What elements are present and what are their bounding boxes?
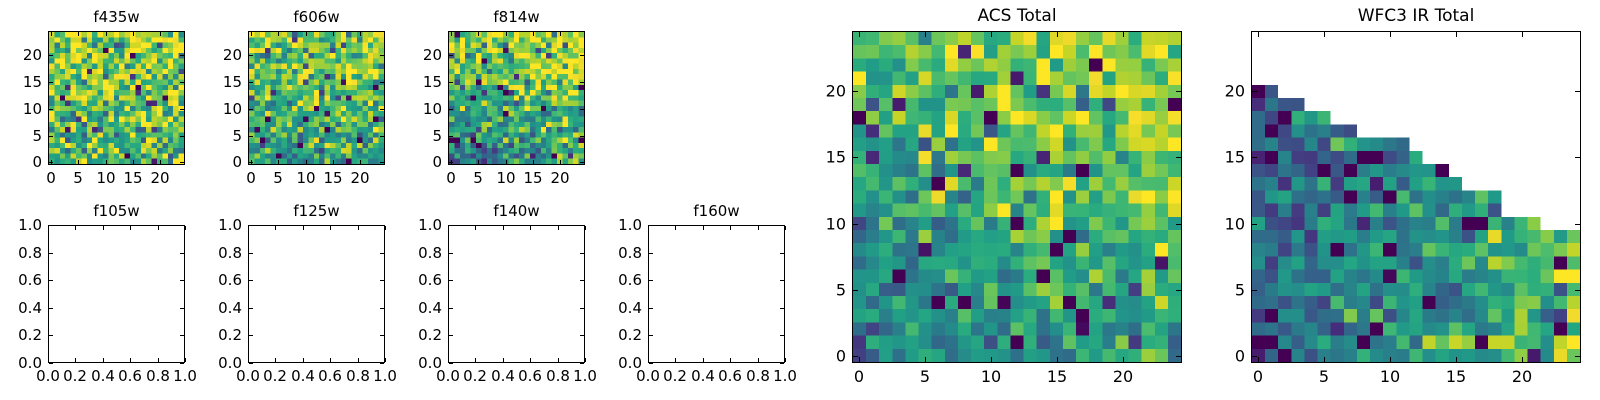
ytick-right-f814w-4 <box>580 55 584 56</box>
xtick-f125w-1 <box>275 358 276 362</box>
xtick-f814w-3 <box>533 160 534 164</box>
xticklabel-wfc3-ir-total-1: 5 <box>1319 367 1329 386</box>
xticklabel-f606w-0: 0 <box>246 169 256 187</box>
yticklabel-wfc3-ir-total-1: 5 <box>1235 281 1245 300</box>
xtick-top-f160w-0 <box>648 226 649 230</box>
xtick-top-f140w-1 <box>475 226 476 230</box>
yticklabel-wfc3-ir-total-0: 0 <box>1235 347 1245 366</box>
yticklabel-f125w-0: 0.0 <box>218 354 242 372</box>
xtick-top-f105w-3 <box>130 226 131 230</box>
xtick-top-f435w-0 <box>51 32 52 36</box>
heatmap-f814w <box>449 32 584 164</box>
ytick-right-f105w-1 <box>180 335 184 336</box>
ytick-right-wfc3-ir-total-4 <box>1575 91 1580 92</box>
yticklabel-f606w-4: 20 <box>223 46 242 64</box>
xtick-top-acs-total-3 <box>1057 32 1058 37</box>
panel-title-f435w: f435w <box>48 8 185 26</box>
xtick-wfc3-ir-total-1 <box>1324 357 1325 362</box>
xtick-top-f105w-4 <box>158 226 159 230</box>
xtick-f814w-4 <box>560 160 561 164</box>
xtick-acs-total-3 <box>1057 357 1058 362</box>
ytick-wfc3-ir-total-4 <box>1252 91 1257 92</box>
ytick-right-f606w-3 <box>380 82 384 83</box>
ytick-f105w-4 <box>49 253 53 254</box>
ytick-right-f160w-5 <box>780 225 784 226</box>
xticklabel-f140w-4: 0.8 <box>546 367 570 385</box>
xticklabel-f435w-1: 5 <box>73 169 83 187</box>
xtick-top-f140w-4 <box>558 226 559 230</box>
xtick-f140w-2 <box>503 358 504 362</box>
xtick-f606w-3 <box>333 160 334 164</box>
ytick-right-f105w-5 <box>180 225 184 226</box>
yticklabel-f814w-0: 0 <box>432 153 442 171</box>
xtick-f125w-4 <box>358 358 359 362</box>
ytick-right-f125w-3 <box>380 280 384 281</box>
yticklabel-f105w-1: 0.2 <box>18 326 42 344</box>
xtick-f814w-2 <box>506 160 507 164</box>
ytick-right-f125w-4 <box>380 253 384 254</box>
xtick-wfc3-ir-total-3 <box>1456 357 1457 362</box>
yticklabel-f125w-3: 0.6 <box>218 271 242 289</box>
ytick-right-acs-total-3 <box>1176 157 1181 158</box>
xtick-top-f435w-1 <box>78 32 79 36</box>
panel-acs-total: ACS Total0510152005101520 <box>852 31 1182 363</box>
yticklabel-acs-total-3: 15 <box>826 148 846 167</box>
xtick-top-f606w-2 <box>306 32 307 36</box>
yticklabel-f160w-1: 0.2 <box>618 326 642 344</box>
panel-f125w: f125w0.00.20.40.60.81.00.00.20.40.60.81.… <box>248 225 385 363</box>
yticklabel-f435w-2: 10 <box>23 100 42 118</box>
xticklabel-f125w-4: 0.8 <box>346 367 370 385</box>
yticklabel-f105w-3: 0.6 <box>18 271 42 289</box>
ytick-right-f435w-2 <box>180 109 184 110</box>
xtick-f160w-4 <box>758 358 759 362</box>
ytick-f606w-3 <box>249 82 253 83</box>
ytick-right-f606w-2 <box>380 109 384 110</box>
xtick-top-f814w-0 <box>451 32 452 36</box>
yticklabel-f105w-5: 1.0 <box>18 216 42 234</box>
ytick-right-f435w-3 <box>180 82 184 83</box>
xtick-top-wfc3-ir-total-2 <box>1390 32 1391 37</box>
panel-title-f125w: f125w <box>248 202 385 220</box>
xticklabel-f814w-1: 5 <box>473 169 483 187</box>
panel-f435w: f435w0510152005101520 <box>48 31 185 165</box>
heatmap-f435w <box>49 32 184 164</box>
panel-title-f814w: f814w <box>448 8 585 26</box>
xticklabel-acs-total-1: 5 <box>920 367 930 386</box>
axes-f160w <box>648 225 785 363</box>
ytick-f814w-0 <box>449 162 453 163</box>
axes-f814w <box>448 31 585 165</box>
ytick-f160w-5 <box>649 225 653 226</box>
xtick-f606w-2 <box>306 160 307 164</box>
yticklabel-f606w-0: 0 <box>232 153 242 171</box>
ytick-right-f606w-4 <box>380 55 384 56</box>
ytick-f606w-0 <box>249 162 253 163</box>
xticklabel-f814w-0: 0 <box>446 169 456 187</box>
xtick-f140w-3 <box>530 358 531 362</box>
xtick-f105w-2 <box>103 358 104 362</box>
xticklabel-f435w-0: 0 <box>46 169 56 187</box>
xticklabel-f435w-2: 10 <box>96 169 115 187</box>
ytick-right-acs-total-0 <box>1176 356 1181 357</box>
xtick-f125w-5 <box>385 358 386 362</box>
ytick-right-acs-total-1 <box>1176 290 1181 291</box>
xticklabel-f105w-3: 0.6 <box>118 367 142 385</box>
xtick-top-f125w-1 <box>275 226 276 230</box>
xtick-top-f125w-0 <box>248 226 249 230</box>
xtick-wfc3-ir-total-2 <box>1390 357 1391 362</box>
ytick-right-f435w-1 <box>180 136 184 137</box>
yticklabel-f105w-2: 0.4 <box>18 299 42 317</box>
panel-title-f140w: f140w <box>448 202 585 220</box>
xtick-top-f814w-1 <box>478 32 479 36</box>
xtick-wfc3-ir-total-4 <box>1522 357 1523 362</box>
xtick-top-wfc3-ir-total-0 <box>1258 32 1259 37</box>
xtick-top-f140w-5 <box>585 226 586 230</box>
yticklabel-f160w-3: 0.6 <box>618 271 642 289</box>
xtick-top-f140w-2 <box>503 226 504 230</box>
panel-wfc3-ir-total: WFC3 IR Total0510152005101520 <box>1251 31 1581 363</box>
ytick-f606w-4 <box>249 55 253 56</box>
ytick-right-f140w-4 <box>580 253 584 254</box>
xticklabel-f105w-2: 0.4 <box>91 367 115 385</box>
ytick-f160w-2 <box>649 308 653 309</box>
xticklabel-f435w-3: 15 <box>123 169 142 187</box>
xticklabel-f160w-4: 0.8 <box>746 367 770 385</box>
yticklabel-f140w-5: 1.0 <box>418 216 442 234</box>
ytick-right-f140w-3 <box>580 280 584 281</box>
xtick-f105w-0 <box>48 358 49 362</box>
xtick-f435w-4 <box>160 160 161 164</box>
ytick-f105w-2 <box>49 308 53 309</box>
yticklabel-f435w-1: 5 <box>32 127 42 145</box>
ytick-right-f105w-0 <box>180 363 184 364</box>
xtick-f125w-2 <box>303 358 304 362</box>
ytick-f814w-3 <box>449 82 453 83</box>
xticklabel-acs-total-4: 20 <box>1113 367 1133 386</box>
xtick-f606w-4 <box>360 160 361 164</box>
xtick-f160w-5 <box>785 358 786 362</box>
yticklabel-acs-total-2: 10 <box>826 215 846 234</box>
ytick-right-acs-total-2 <box>1176 224 1181 225</box>
heatmap-wfc3-ir-total <box>1252 32 1580 362</box>
axes-wfc3-ir-total <box>1251 31 1581 363</box>
ytick-f435w-3 <box>49 82 53 83</box>
xticklabel-f105w-5: 1.0 <box>173 367 197 385</box>
xticklabel-acs-total-0: 0 <box>854 367 864 386</box>
axes-f125w <box>248 225 385 363</box>
ytick-right-f140w-5 <box>580 225 584 226</box>
ytick-right-f105w-4 <box>180 253 184 254</box>
yticklabel-f814w-1: 5 <box>432 127 442 145</box>
ytick-f105w-1 <box>49 335 53 336</box>
panel-title-f606w: f606w <box>248 8 385 26</box>
ytick-right-f814w-3 <box>580 82 584 83</box>
xtick-f140w-5 <box>585 358 586 362</box>
xtick-f125w-3 <box>330 358 331 362</box>
ytick-right-f140w-2 <box>580 308 584 309</box>
ytick-right-f814w-0 <box>580 162 584 163</box>
xtick-top-f105w-2 <box>103 226 104 230</box>
xtick-top-f105w-5 <box>185 226 186 230</box>
axes-f105w <box>48 225 185 363</box>
panel-title-f160w: f160w <box>648 202 785 220</box>
xticklabel-f125w-3: 0.6 <box>318 367 342 385</box>
yticklabel-wfc3-ir-total-3: 15 <box>1225 148 1245 167</box>
heatmap-acs-total <box>853 32 1181 362</box>
ytick-f435w-4 <box>49 55 53 56</box>
ytick-right-f160w-2 <box>780 308 784 309</box>
ytick-f105w-3 <box>49 280 53 281</box>
xtick-top-wfc3-ir-total-4 <box>1522 32 1523 37</box>
ytick-f160w-0 <box>649 363 653 364</box>
figure-canvas: f435w0510152005101520f606w05101520051015… <box>0 0 1600 400</box>
panel-title-f105w: f105w <box>48 202 185 220</box>
yticklabel-f435w-0: 0 <box>32 153 42 171</box>
yticklabel-f125w-2: 0.4 <box>218 299 242 317</box>
xtick-top-acs-total-1 <box>925 32 926 37</box>
xtick-f606w-1 <box>278 160 279 164</box>
ytick-f435w-2 <box>49 109 53 110</box>
xtick-f140w-0 <box>448 358 449 362</box>
xtick-top-f814w-3 <box>533 32 534 36</box>
ytick-right-f606w-0 <box>380 162 384 163</box>
xticklabel-f814w-4: 20 <box>550 169 569 187</box>
xtick-top-acs-total-0 <box>859 32 860 37</box>
xtick-top-f606w-4 <box>360 32 361 36</box>
ytick-right-f105w-2 <box>180 308 184 309</box>
ytick-f125w-4 <box>249 253 253 254</box>
yticklabel-f160w-5: 1.0 <box>618 216 642 234</box>
panel-f140w: f140w0.00.20.40.60.81.00.00.20.40.60.81.… <box>448 225 585 363</box>
heatmap-f606w <box>249 32 384 164</box>
ytick-right-wfc3-ir-total-3 <box>1575 157 1580 158</box>
ytick-wfc3-ir-total-1 <box>1252 290 1257 291</box>
ytick-f606w-1 <box>249 136 253 137</box>
yticklabel-f814w-2: 10 <box>423 100 442 118</box>
yticklabel-f140w-0: 0.0 <box>418 354 442 372</box>
ytick-right-f814w-2 <box>580 109 584 110</box>
yticklabel-f125w-4: 0.8 <box>218 244 242 262</box>
yticklabel-f140w-2: 0.4 <box>418 299 442 317</box>
xticklabel-f125w-1: 0.2 <box>263 367 287 385</box>
yticklabel-f606w-2: 10 <box>223 100 242 118</box>
xticklabel-f606w-2: 10 <box>296 169 315 187</box>
ytick-f140w-0 <box>449 363 453 364</box>
xtick-f140w-4 <box>558 358 559 362</box>
ytick-right-f140w-0 <box>580 363 584 364</box>
yticklabel-f814w-3: 15 <box>423 73 442 91</box>
xticklabel-f435w-4: 20 <box>150 169 169 187</box>
xticklabel-f160w-2: 0.4 <box>691 367 715 385</box>
xticklabel-f160w-3: 0.6 <box>718 367 742 385</box>
yticklabel-f125w-5: 1.0 <box>218 216 242 234</box>
ytick-right-f125w-0 <box>380 363 384 364</box>
xtick-f105w-4 <box>158 358 159 362</box>
ytick-right-f435w-0 <box>180 162 184 163</box>
ytick-f125w-5 <box>249 225 253 226</box>
ytick-f140w-4 <box>449 253 453 254</box>
xtick-top-f814w-4 <box>560 32 561 36</box>
yticklabel-f140w-3: 0.6 <box>418 271 442 289</box>
xticklabel-f125w-2: 0.4 <box>291 367 315 385</box>
ytick-f105w-5 <box>49 225 53 226</box>
xticklabel-f160w-5: 1.0 <box>773 367 797 385</box>
yticklabel-f606w-3: 15 <box>223 73 242 91</box>
xtick-top-acs-total-4 <box>1123 32 1124 37</box>
xticklabel-f606w-1: 5 <box>273 169 283 187</box>
ytick-acs-total-1 <box>853 290 858 291</box>
panel-f606w: f606w0510152005101520 <box>248 31 385 165</box>
xtick-top-f125w-4 <box>358 226 359 230</box>
yticklabel-f160w-0: 0.0 <box>618 354 642 372</box>
ytick-right-wfc3-ir-total-2 <box>1575 224 1580 225</box>
xtick-f105w-5 <box>185 358 186 362</box>
ytick-f125w-0 <box>249 363 253 364</box>
xtick-top-f814w-2 <box>506 32 507 36</box>
xticklabel-f140w-5: 1.0 <box>573 367 597 385</box>
xticklabel-wfc3-ir-total-2: 10 <box>1380 367 1400 386</box>
yticklabel-f606w-1: 5 <box>232 127 242 145</box>
yticklabel-f125w-1: 0.2 <box>218 326 242 344</box>
ytick-f160w-4 <box>649 253 653 254</box>
xtick-top-f160w-2 <box>703 226 704 230</box>
ytick-f814w-4 <box>449 55 453 56</box>
ytick-f125w-1 <box>249 335 253 336</box>
xtick-top-f435w-4 <box>160 32 161 36</box>
xticklabel-wfc3-ir-total-4: 20 <box>1512 367 1532 386</box>
xticklabel-f814w-3: 15 <box>523 169 542 187</box>
ytick-right-f140w-1 <box>580 335 584 336</box>
xtick-f160w-2 <box>703 358 704 362</box>
ytick-f140w-2 <box>449 308 453 309</box>
yticklabel-acs-total-4: 20 <box>826 82 846 101</box>
yticklabel-f105w-0: 0.0 <box>18 354 42 372</box>
yticklabel-f435w-4: 20 <box>23 46 42 64</box>
yticklabel-wfc3-ir-total-4: 20 <box>1225 82 1245 101</box>
xtick-top-f160w-4 <box>758 226 759 230</box>
ytick-right-f160w-3 <box>780 280 784 281</box>
ytick-f125w-3 <box>249 280 253 281</box>
panel-title-wfc3-ir-total: WFC3 IR Total <box>1251 6 1581 26</box>
ytick-f435w-0 <box>49 162 53 163</box>
xticklabel-f140w-2: 0.4 <box>491 367 515 385</box>
xtick-acs-total-4 <box>1123 357 1124 362</box>
ytick-wfc3-ir-total-3 <box>1252 157 1257 158</box>
ytick-f814w-1 <box>449 136 453 137</box>
xtick-top-f435w-2 <box>106 32 107 36</box>
ytick-f435w-1 <box>49 136 53 137</box>
ytick-acs-total-0 <box>853 356 858 357</box>
axes-f435w <box>48 31 185 165</box>
xtick-top-f435w-3 <box>133 32 134 36</box>
xtick-f435w-1 <box>78 160 79 164</box>
xtick-top-f160w-5 <box>785 226 786 230</box>
ytick-f125w-2 <box>249 308 253 309</box>
ytick-right-f125w-2 <box>380 308 384 309</box>
ytick-right-wfc3-ir-total-1 <box>1575 290 1580 291</box>
ytick-wfc3-ir-total-2 <box>1252 224 1257 225</box>
xtick-f814w-1 <box>478 160 479 164</box>
xtick-top-f606w-3 <box>333 32 334 36</box>
ytick-right-f125w-1 <box>380 335 384 336</box>
ytick-f140w-5 <box>449 225 453 226</box>
xtick-top-f105w-0 <box>48 226 49 230</box>
axes-f606w <box>248 31 385 165</box>
xticklabel-f140w-1: 0.2 <box>463 367 487 385</box>
yticklabel-f140w-4: 0.8 <box>418 244 442 262</box>
axes-f140w <box>448 225 585 363</box>
yticklabel-wfc3-ir-total-2: 10 <box>1225 215 1245 234</box>
xticklabel-f606w-3: 15 <box>323 169 342 187</box>
xtick-f435w-3 <box>133 160 134 164</box>
xtick-top-wfc3-ir-total-1 <box>1324 32 1325 37</box>
ytick-right-f105w-3 <box>180 280 184 281</box>
panel-title-acs-total: ACS Total <box>852 6 1182 26</box>
yticklabel-f435w-3: 15 <box>23 73 42 91</box>
xtick-f105w-1 <box>75 358 76 362</box>
xticklabel-f125w-5: 1.0 <box>373 367 397 385</box>
xtick-top-f160w-3 <box>730 226 731 230</box>
yticklabel-f105w-4: 0.8 <box>18 244 42 262</box>
ytick-right-f606w-1 <box>380 136 384 137</box>
xticklabel-f814w-2: 10 <box>496 169 515 187</box>
xtick-top-f606w-0 <box>251 32 252 36</box>
ytick-right-acs-total-4 <box>1176 91 1181 92</box>
xtick-acs-total-0 <box>859 357 860 362</box>
xtick-top-f125w-3 <box>330 226 331 230</box>
xticklabel-f160w-1: 0.2 <box>663 367 687 385</box>
axes-acs-total <box>852 31 1182 363</box>
ytick-wfc3-ir-total-0 <box>1252 356 1257 357</box>
xtick-top-wfc3-ir-total-3 <box>1456 32 1457 37</box>
yticklabel-f160w-4: 0.8 <box>618 244 642 262</box>
xtick-f160w-1 <box>675 358 676 362</box>
ytick-acs-total-3 <box>853 157 858 158</box>
ytick-acs-total-2 <box>853 224 858 225</box>
panel-f160w: f160w0.00.20.40.60.81.00.00.20.40.60.81.… <box>648 225 785 363</box>
ytick-right-f814w-1 <box>580 136 584 137</box>
xticklabel-f606w-4: 20 <box>350 169 369 187</box>
xticklabel-f105w-1: 0.2 <box>63 367 87 385</box>
yticklabel-f140w-1: 0.2 <box>418 326 442 344</box>
xtick-top-f140w-0 <box>448 226 449 230</box>
xticklabel-wfc3-ir-total-0: 0 <box>1253 367 1263 386</box>
panel-f814w: f814w0510152005101520 <box>448 31 585 165</box>
ytick-right-f160w-0 <box>780 363 784 364</box>
ytick-f606w-2 <box>249 109 253 110</box>
xticklabel-f105w-4: 0.8 <box>146 367 170 385</box>
ytick-f160w-3 <box>649 280 653 281</box>
ytick-f140w-3 <box>449 280 453 281</box>
xtick-top-f606w-1 <box>278 32 279 36</box>
ytick-right-f160w-4 <box>780 253 784 254</box>
xtick-top-acs-total-2 <box>991 32 992 37</box>
xtick-f160w-3 <box>730 358 731 362</box>
yticklabel-f814w-4: 20 <box>423 46 442 64</box>
xtick-f160w-0 <box>648 358 649 362</box>
xtick-top-f140w-3 <box>530 226 531 230</box>
xtick-top-f105w-1 <box>75 226 76 230</box>
yticklabel-acs-total-0: 0 <box>836 347 846 366</box>
ytick-acs-total-4 <box>853 91 858 92</box>
xticklabel-f140w-3: 0.6 <box>518 367 542 385</box>
xticklabel-acs-total-3: 15 <box>1047 367 1067 386</box>
xtick-f125w-0 <box>248 358 249 362</box>
yticklabel-f160w-2: 0.4 <box>618 299 642 317</box>
xtick-acs-total-1 <box>925 357 926 362</box>
